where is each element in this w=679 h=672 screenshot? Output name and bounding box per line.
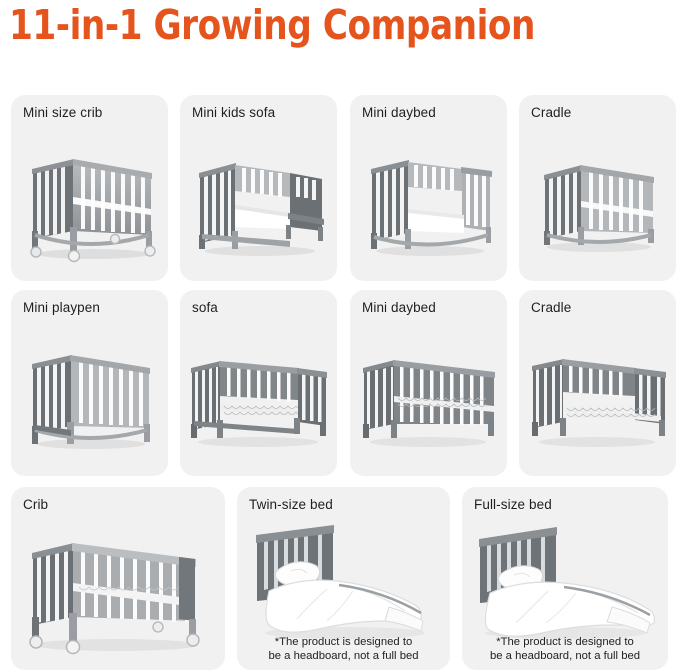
- card-label: Mini playpen: [23, 300, 100, 315]
- full-bed-illustration: [462, 519, 668, 645]
- daybed-full-illustration: [350, 330, 507, 468]
- config-card-mini-daybed[interactable]: Mini daybed: [350, 95, 507, 281]
- headboard-disclaimer: *The product is designed to be a headboa…: [237, 636, 450, 664]
- headboard-disclaimer: *The product is designed to be a headboa…: [462, 636, 668, 664]
- cradle-full-illustration: [519, 330, 676, 468]
- config-card-sofa[interactable]: sofa: [180, 290, 337, 476]
- cradle-mini-illustration: [519, 135, 676, 273]
- config-card-cradle-mini[interactable]: Cradle: [519, 95, 676, 281]
- mini-kids-sofa-illustration: [180, 135, 337, 273]
- config-card-twin-size-bed[interactable]: Twin-size bed: [237, 487, 450, 670]
- card-label: Cradle: [531, 105, 571, 120]
- mini-crib-wheels-illustration: [11, 135, 168, 273]
- sofa-full-illustration: [180, 330, 337, 468]
- config-card-crib[interactable]: Crib: [11, 487, 225, 670]
- mini-daybed-illustration: [350, 135, 507, 273]
- config-card-full-size-bed[interactable]: Full-size bed: [462, 487, 668, 670]
- card-label: Mini size crib: [23, 105, 102, 120]
- product-configurations-infographic: 11-in-1 Growing Companion Mini size crib: [0, 0, 679, 672]
- card-label: Cradle: [531, 300, 571, 315]
- config-card-mini-kids-sofa[interactable]: Mini kids sofa: [180, 95, 337, 281]
- configuration-card-grid: Mini size crib: [0, 0, 679, 672]
- card-label: Mini daybed: [362, 300, 436, 315]
- card-label: Full-size bed: [474, 497, 552, 512]
- config-card-mini-size-crib[interactable]: Mini size crib: [11, 95, 168, 281]
- card-label: sofa: [192, 300, 218, 315]
- card-label: Twin-size bed: [249, 497, 333, 512]
- config-card-cradle-2[interactable]: Cradle: [519, 290, 676, 476]
- config-card-mini-daybed-2[interactable]: Mini daybed: [350, 290, 507, 476]
- twin-bed-illustration: [237, 519, 450, 645]
- config-card-mini-playpen[interactable]: Mini playpen: [11, 290, 168, 476]
- card-label: Mini daybed: [362, 105, 436, 120]
- card-label: Crib: [23, 497, 48, 512]
- card-label: Mini kids sofa: [192, 105, 275, 120]
- mini-playpen-illustration: [11, 330, 168, 468]
- crib-large-illustration: [11, 521, 225, 661]
